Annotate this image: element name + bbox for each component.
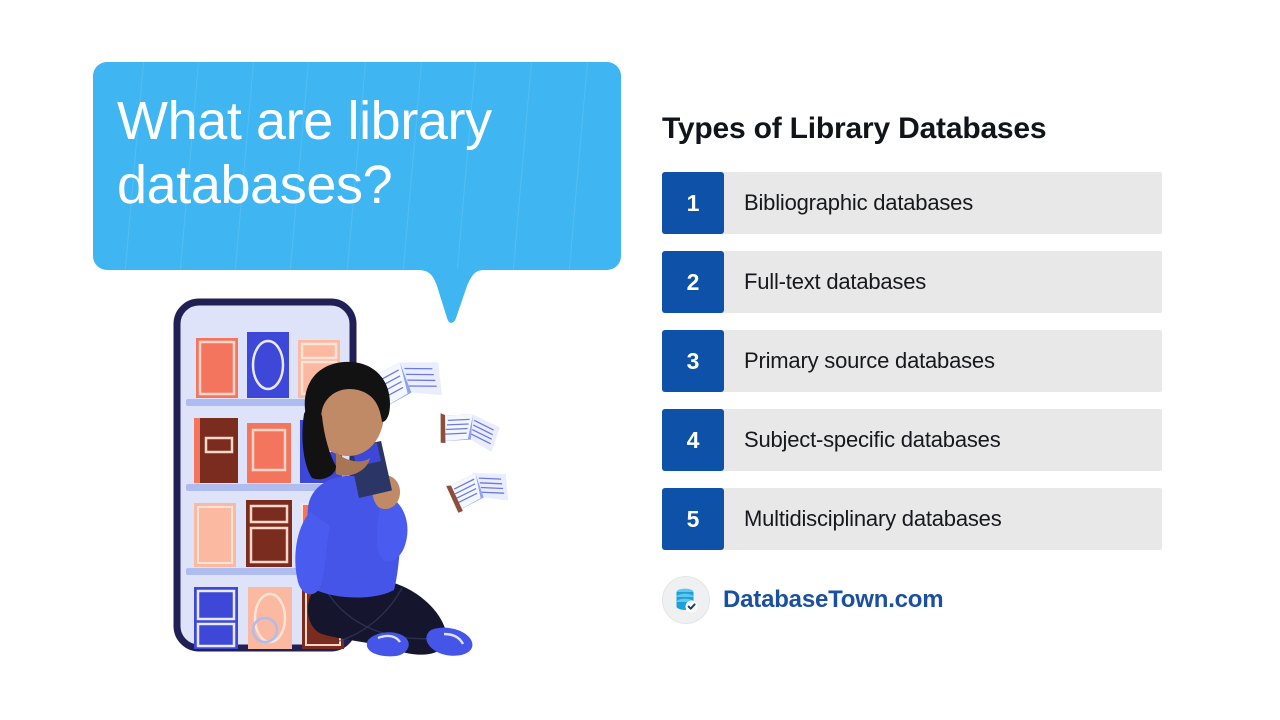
person-figure [295,362,472,657]
speech-bubble: What are library databases? [93,62,621,270]
illustration-woman-reading [150,290,550,670]
brand-footer[interactable]: DatabaseTown.com [662,576,1162,624]
list-item-number: 2 [662,251,724,313]
bubble-headline: What are library databases? [117,90,607,217]
list-item[interactable]: 5 Multidisciplinary databases [662,488,1162,550]
page-title: Types of Library Databases [662,112,1162,146]
list-item-number: 5 [662,488,724,550]
types-panel: Types of Library Databases 1 Bibliograph… [662,112,1162,642]
database-check-icon [662,576,710,624]
open-book-icon-2 [435,408,502,454]
list-item[interactable]: 1 Bibliographic databases [662,172,1162,234]
list-item-label: Primary source databases [724,330,1162,392]
list-item[interactable]: 2 Full-text databases [662,251,1162,313]
list-item[interactable]: 3 Primary source databases [662,330,1162,392]
list-item-number: 3 [662,330,724,392]
list-item-label: Multidisciplinary databases [724,488,1162,550]
list-item[interactable]: 4 Subject-specific databases [662,409,1162,471]
types-list: 1 Bibliographic databases 2 Full-text da… [662,172,1162,550]
brand-name: DatabaseTown.com [723,586,943,614]
infographic-canvas: What are library databases? [0,0,1280,720]
list-item-label: Bibliographic databases [724,172,1162,234]
list-item-number: 1 [662,172,724,234]
list-item-label: Subject-specific databases [724,409,1162,471]
open-book-icon-3 [445,467,512,514]
list-item-number: 4 [662,409,724,471]
list-item-label: Full-text databases [724,251,1162,313]
